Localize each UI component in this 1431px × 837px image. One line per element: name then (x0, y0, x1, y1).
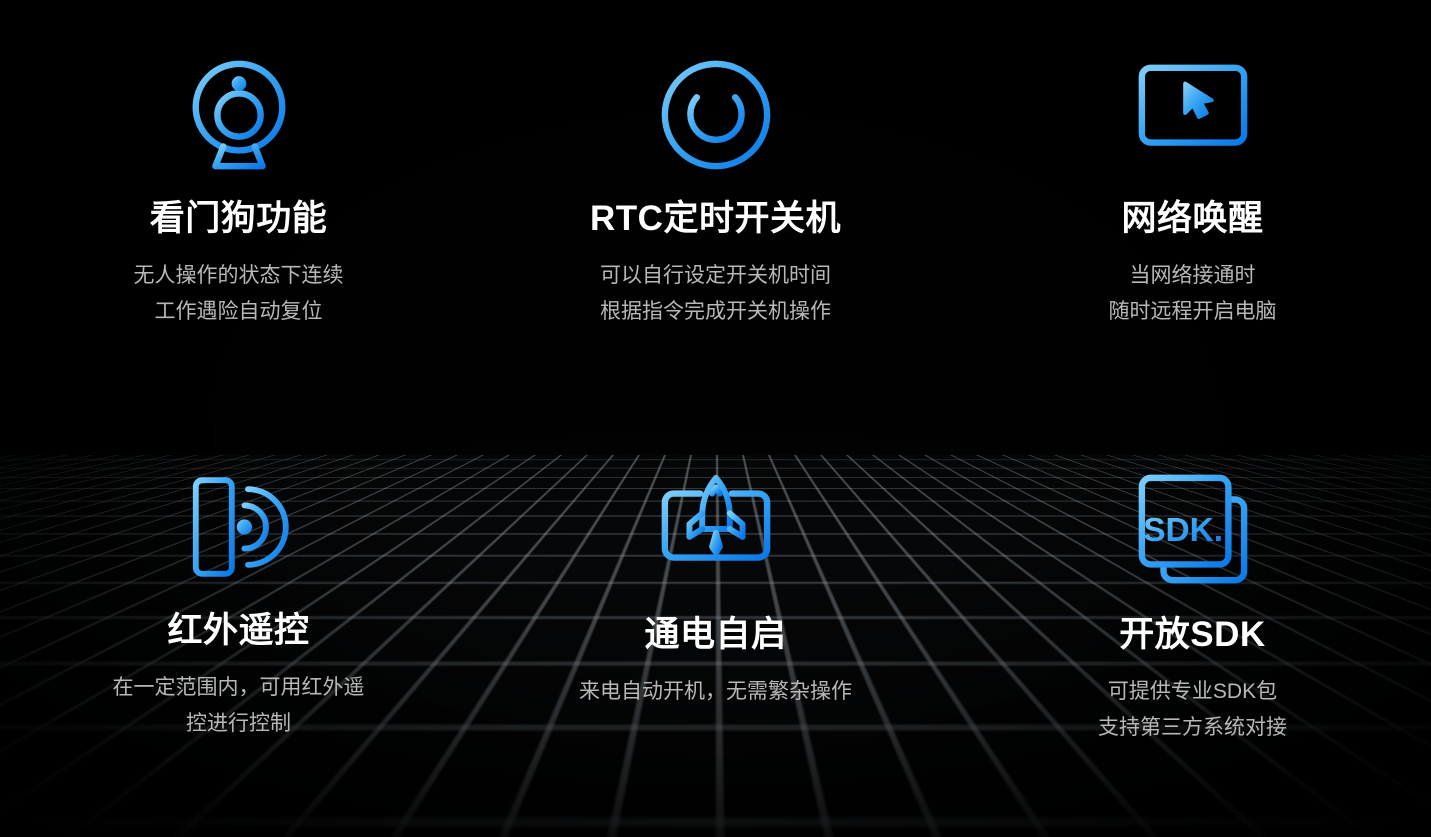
feature-card-wake-on-lan: 网络唤醒 当网络接通时 随时远程开启电脑 (954, 0, 1431, 418)
monitor-cursor-icon (1134, 56, 1252, 174)
feature-card-watchdog: 看门狗功能 无人操作的状态下连续 工作遇险自动复位 (0, 0, 477, 418)
feature-card-rtc-power: RTC定时开关机 可以自行设定开关机时间 根据指令完成开关机操作 (477, 0, 954, 418)
feature-title: 看门狗功能 (150, 200, 328, 239)
desc-line: 支持第三方系统对接 (1098, 710, 1287, 746)
desc-line: 在一定范围内，可用红外遥 (113, 670, 365, 706)
desc-line: 当网络接通时 (1109, 258, 1277, 294)
feature-title: RTC定时开关机 (590, 200, 841, 239)
desc-line: 来电自动开机，无需繁杂操作 (579, 674, 852, 710)
feature-description: 来电自动开机，无需繁杂操作 (579, 674, 852, 710)
desc-line: 控进行控制 (113, 706, 365, 742)
desc-line: 根据指令完成开关机操作 (600, 294, 831, 330)
feature-title: 开放SDK (1119, 616, 1265, 655)
sdk-windows-icon: SDK. (1134, 470, 1252, 588)
feature-card-ir-remote: 红外遥控 在一定范围内，可用红外遥 控进行控制 (0, 418, 477, 837)
feature-description: 无人操作的状态下连续 工作遇险自动复位 (134, 258, 344, 330)
feature-grid: 看门狗功能 无人操作的状态下连续 工作遇险自动复位 RTC定时开关机 可以自行设… (0, 0, 1431, 837)
ir-remote-signal-icon (185, 470, 293, 584)
feature-title: 红外遥控 (167, 612, 309, 651)
sdk-label: SDK. (1143, 512, 1223, 549)
feature-card-auto-power-on: 通电自启 来电自动开机，无需繁杂操作 (477, 418, 954, 837)
desc-line: 无人操作的状态下连续 (134, 258, 344, 294)
desc-line: 可提供专业SDK包 (1098, 674, 1287, 710)
feature-title: 通电自启 (644, 616, 786, 655)
feature-description: 可提供专业SDK包 支持第三方系统对接 (1098, 674, 1287, 746)
feature-description: 可以自行设定开关机时间 根据指令完成开关机操作 (600, 258, 831, 330)
monitor-rocket-icon (657, 470, 775, 588)
desc-line: 随时远程开启电脑 (1109, 294, 1277, 330)
feature-card-open-sdk: SDK. 开放SDK 可提供专业SDK包 支持第三方系统对接 (954, 418, 1431, 837)
webcam-icon (180, 56, 298, 174)
cursor-glyph (1185, 84, 1212, 117)
desc-line: 可以自行设定开关机时间 (600, 258, 831, 294)
feature-description: 在一定范围内，可用红外遥 控进行控制 (113, 670, 365, 742)
feature-description: 当网络接通时 随时远程开启电脑 (1109, 258, 1277, 330)
power-button-icon (657, 56, 775, 174)
feature-title: 网络唤醒 (1121, 200, 1263, 239)
desc-line: 工作遇险自动复位 (134, 294, 344, 330)
